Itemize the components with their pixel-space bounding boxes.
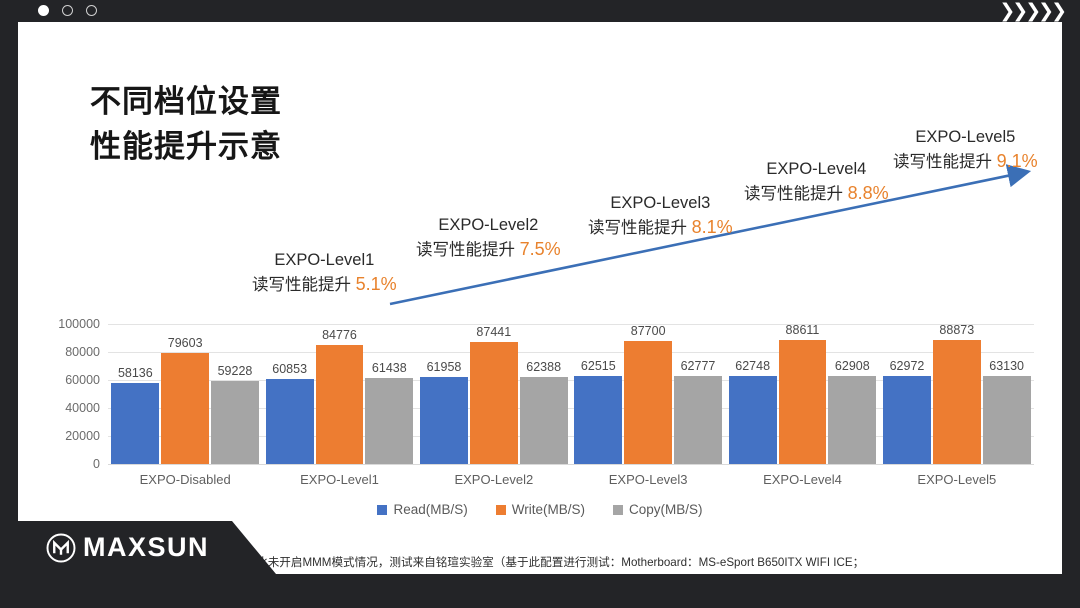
title-line-2: 性能提升示意: [90, 125, 282, 170]
callout-gain-label: 读写性能提升: [252, 276, 351, 294]
legend-item-read[interactable]: Read(MB/S): [377, 502, 467, 517]
bar-group: 627488861162908: [725, 324, 879, 464]
footnote-line-2: CPU：AMD Ryzen 5 7500f；RAM：宏基掠夺者6000 16x2…: [240, 573, 1040, 574]
callout-level-label: EXPO-Level3: [588, 192, 733, 215]
x-axis-tick: EXPO-Level3: [571, 472, 725, 487]
x-axis-tick: EXPO-Level1: [262, 472, 416, 487]
footnote: *对比未开启MMM模式情况，测试来自铭瑄实验室（基于此配置进行测试：Mother…: [240, 553, 1040, 574]
bar-copy[interactable]: 61438: [365, 378, 413, 464]
callout-level-label: EXPO-Level4: [744, 158, 889, 181]
dot-indicator-active[interactable]: [38, 5, 49, 16]
bar-slot: 61438: [365, 324, 413, 464]
bar-slot: 61958: [420, 324, 468, 464]
callout-gain-label: 读写性能提升: [416, 241, 515, 259]
bar-value-label: 58136: [118, 366, 153, 380]
bar-group: 608538477661438: [262, 324, 416, 464]
callout-level5: EXPO-Level5 读写性能提升 9.1%: [893, 126, 1038, 175]
callout-level2: EXPO-Level2 读写性能提升 7.5%: [416, 214, 561, 263]
x-axis-tick: EXPO-Level4: [725, 472, 879, 487]
bar-write[interactable]: 87700: [624, 341, 672, 464]
bar-value-label: 62972: [890, 359, 925, 373]
bar-slot: 60853: [266, 324, 314, 464]
bar-value-label: 59228: [218, 364, 253, 378]
bar-value-label: 61958: [427, 360, 462, 374]
bar-slot: 87441: [470, 324, 518, 464]
y-axis-tick: 60000: [65, 373, 100, 387]
bar-slot: 84776: [316, 324, 364, 464]
bar-read[interactable]: 62972: [883, 376, 931, 464]
bar-value-label: 87441: [476, 325, 511, 339]
brand-name: MAXSUN: [83, 532, 209, 563]
legend-label: Copy(MB/S): [629, 502, 703, 517]
y-axis-tick: 0: [93, 457, 100, 471]
callout-level4: EXPO-Level4 读写性能提升 8.8%: [744, 158, 889, 207]
bar-value-label: 62908: [835, 359, 870, 373]
bar-slot: 79603: [161, 324, 209, 464]
footnote-line-1: *对比未开启MMM模式情况，测试来自铭瑄实验室（基于此配置进行测试：Mother…: [240, 553, 1040, 573]
callout-gain: 读写性能提升 5.1%: [252, 272, 397, 298]
bar-slot: 62388: [520, 324, 568, 464]
bar-slot: 59228: [211, 324, 259, 464]
bar-slot: 63130: [983, 324, 1031, 464]
bar-copy[interactable]: 59228: [211, 381, 259, 464]
x-axis-tick: EXPO-Disabled: [108, 472, 262, 487]
bar-copy[interactable]: 62388: [520, 377, 568, 464]
bar-value-label: 88611: [786, 323, 820, 337]
bar-write[interactable]: 87441: [470, 342, 518, 464]
page-title: 不同档位设置 性能提升示意: [90, 80, 282, 170]
bar-slot: 62515: [574, 324, 622, 464]
legend-swatch-icon: [613, 505, 623, 515]
bar-copy[interactable]: 63130: [983, 376, 1031, 464]
callout-gain: 读写性能提升 8.8%: [744, 181, 889, 207]
callout-level-label: EXPO-Level1: [252, 249, 397, 272]
bar-write[interactable]: 88611: [779, 340, 827, 464]
callout-level-label: EXPO-Level5: [893, 126, 1038, 149]
x-axis-tick: EXPO-Level5: [880, 472, 1034, 487]
bar-value-label: 62748: [735, 359, 770, 373]
callout-gain-pct: 9.1%: [997, 151, 1038, 171]
bar-group: 629728887363130: [880, 324, 1034, 464]
bar-group: 625158770062777: [571, 324, 725, 464]
callout-level-label: EXPO-Level2: [416, 214, 561, 237]
bar-write[interactable]: 88873: [933, 340, 981, 464]
bar-group: 619588744162388: [417, 324, 571, 464]
bar-read[interactable]: 62748: [729, 376, 777, 464]
callout-level3: EXPO-Level3 读写性能提升 8.1%: [588, 192, 733, 241]
callout-gain-pct: 8.8%: [848, 183, 889, 203]
legend-item-copy[interactable]: Copy(MB/S): [613, 502, 703, 517]
chart-legend: Read(MB/S)Write(MB/S)Copy(MB/S): [18, 502, 1062, 517]
x-axis-line: [108, 464, 1034, 465]
legend-item-write[interactable]: Write(MB/S): [496, 502, 585, 517]
bar-slot: 88611: [779, 324, 827, 464]
bar-group: 581367960359228: [108, 324, 262, 464]
callout-gain-label: 读写性能提升: [744, 185, 843, 203]
bar-read[interactable]: 58136: [111, 383, 159, 464]
callout-gain: 读写性能提升 9.1%: [893, 149, 1038, 175]
bar-slot: 62748: [729, 324, 777, 464]
dot-indicator-3[interactable]: [86, 5, 97, 16]
callout-gain-label: 读写性能提升: [588, 219, 687, 237]
x-axis-tick: EXPO-Level2: [417, 472, 571, 487]
legend-label: Write(MB/S): [512, 502, 585, 517]
bar-read[interactable]: 60853: [266, 379, 314, 464]
bar-value-label: 87700: [631, 324, 666, 338]
maxsun-circle-m-logo-icon: [46, 533, 76, 563]
bar-value-label: 61438: [372, 361, 407, 375]
legend-swatch-icon: [496, 505, 506, 515]
bar-value-label: 88873: [939, 323, 974, 337]
y-axis-tick: 80000: [65, 345, 100, 359]
brand-logo: MAXSUN: [18, 521, 276, 574]
callout-gain: 读写性能提升 8.1%: [588, 215, 733, 241]
y-axis-tick: 20000: [65, 429, 100, 443]
bar-slot: 62777: [674, 324, 722, 464]
bar-read[interactable]: 62515: [574, 376, 622, 464]
bar-write[interactable]: 79603: [161, 353, 209, 464]
bar-value-label: 84776: [322, 328, 357, 342]
bar-value-label: 63130: [989, 359, 1024, 373]
bar-slot: 88873: [933, 324, 981, 464]
callout-level1: EXPO-Level1 读写性能提升 5.1%: [252, 249, 397, 298]
bar-slot: 62972: [883, 324, 931, 464]
bar-write[interactable]: 84776: [316, 345, 364, 464]
title-line-1: 不同档位设置: [90, 80, 282, 125]
legend-swatch-icon: [377, 505, 387, 515]
callout-gain-pct: 8.1%: [692, 217, 733, 237]
chevron-right-icon: ❯❯❯❯❯: [999, 2, 1064, 20]
bar-groups: 5813679603592286085384776614386195887441…: [108, 324, 1034, 464]
callout-gain-pct: 7.5%: [520, 239, 561, 259]
legend-label: Read(MB/S): [393, 502, 467, 517]
bar-copy[interactable]: 62777: [674, 376, 722, 464]
window-dots: [38, 5, 97, 16]
slide-canvas: 不同档位设置 性能提升示意 EXPO-Level1 读写性能提升 5.1% EX…: [18, 22, 1062, 574]
y-axis-tick: 40000: [65, 401, 100, 415]
bar-value-label: 62515: [581, 359, 616, 373]
bar-value-label: 62777: [681, 359, 716, 373]
dot-indicator-2[interactable]: [62, 5, 73, 16]
bar-slot: 87700: [624, 324, 672, 464]
callout-gain: 读写性能提升 7.5%: [416, 237, 561, 263]
bar-chart: 100000800006000040000200000 581367960359…: [36, 302, 1044, 502]
slide-frame: ❯❯❯❯❯ 不同档位设置 性能提升示意 EXPO-Level1 读写性能提升 5…: [0, 0, 1080, 608]
bar-slot: 62908: [828, 324, 876, 464]
callout-gain-pct: 5.1%: [356, 274, 397, 294]
bar-value-label: 62388: [526, 360, 561, 374]
bar-value-label: 79603: [168, 336, 203, 350]
y-axis-tick: 100000: [58, 317, 100, 331]
y-axis-labels: 100000800006000040000200000: [36, 324, 100, 464]
bar-read[interactable]: 61958: [420, 377, 468, 464]
bar-copy[interactable]: 62908: [828, 376, 876, 464]
bar-slot: 58136: [111, 324, 159, 464]
bar-value-label: 60853: [272, 362, 307, 376]
callout-gain-label: 读写性能提升: [893, 153, 992, 171]
x-axis-labels: EXPO-DisabledEXPO-Level1EXPO-Level2EXPO-…: [108, 472, 1034, 487]
